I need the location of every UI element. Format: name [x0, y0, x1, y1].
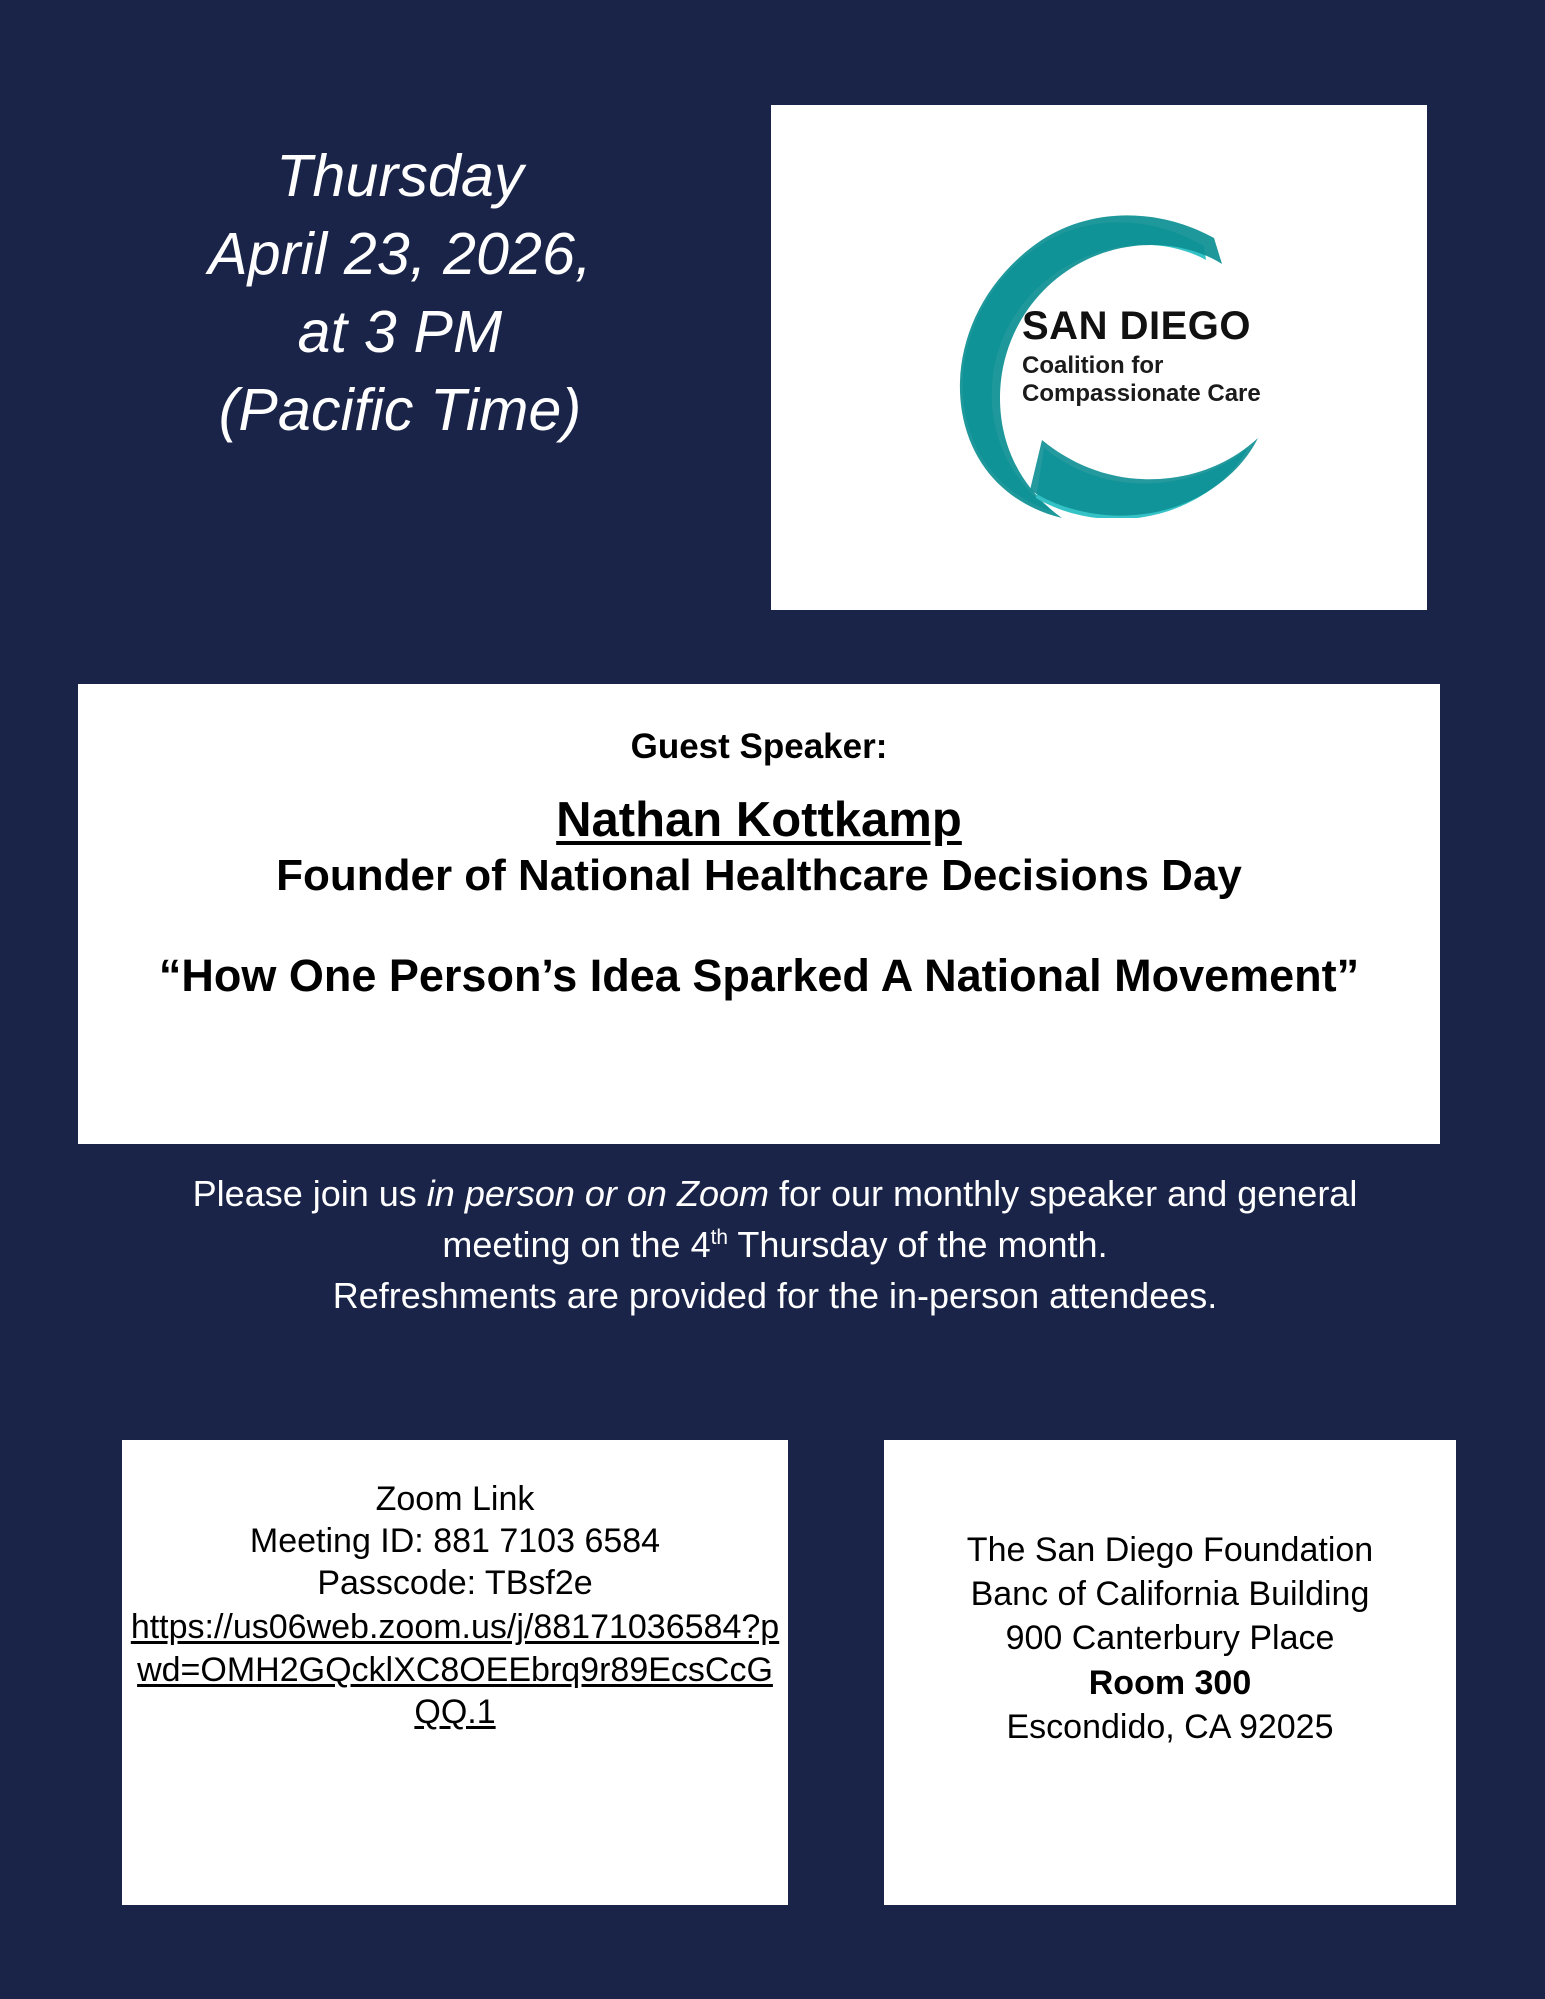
zoom-join-link[interactable]: https://us06web.zoom.us/j/88171036584?pw…: [130, 1606, 780, 1732]
event-date-line-3: at 3 PM: [70, 294, 730, 372]
refreshments-note: Refreshments are provided for the in-per…: [333, 1275, 1218, 1316]
event-date-line-1: Thursday: [70, 138, 730, 216]
zoom-link-card: Zoom Link Meeting ID: 881 7103 6584 Pass…: [122, 1440, 788, 1905]
logo-org-subtitle-line2: Compassionate Care: [1022, 380, 1302, 408]
talk-title: “How One Person’s Idea Sparked A Nationa…: [108, 946, 1410, 1005]
venue-street: 900 Canterbury Place: [890, 1616, 1450, 1660]
organization-logo-card: SAN DIEGO Coalition for Compassionate Ca…: [771, 105, 1427, 610]
join-us-text-part3: Thursday of the month.: [728, 1224, 1108, 1265]
zoom-heading: Zoom Link: [130, 1478, 780, 1520]
logo-org-subtitle-line1: Coalition for: [1022, 352, 1302, 380]
venue-organization: The San Diego Foundation: [890, 1528, 1450, 1572]
logo-wrap: SAN DIEGO Coalition for Compassionate Ca…: [904, 198, 1294, 518]
logo-org-name: SAN DIEGO: [1022, 306, 1302, 346]
event-date-line-4: (Pacific Time): [70, 372, 730, 450]
venue-address-card: The San Diego Foundation Banc of Califor…: [884, 1440, 1456, 1905]
event-date-line-2: April 23, 2026,: [70, 216, 730, 294]
zoom-meeting-id: Meeting ID: 881 7103 6584: [130, 1520, 780, 1562]
join-us-text-part1: Please join us: [193, 1173, 427, 1214]
venue-city-state-zip: Escondido, CA 92025: [890, 1705, 1450, 1749]
guest-speaker-label: Guest Speaker:: [108, 726, 1410, 767]
venue-room: Room 300: [890, 1661, 1450, 1705]
guest-speaker-name: Nathan Kottkamp: [108, 793, 1410, 848]
join-us-emphasis: in person or on Zoom: [427, 1173, 769, 1214]
event-date-block: Thursday April 23, 2026, at 3 PM (Pacifi…: [70, 138, 730, 450]
join-us-paragraph: Please join us in person or on Zoom for …: [150, 1168, 1400, 1321]
join-us-ordinal-suffix: th: [711, 1226, 728, 1249]
guest-speaker-panel: Guest Speaker: Nathan Kottkamp Founder o…: [78, 684, 1440, 1144]
event-flyer: Thursday April 23, 2026, at 3 PM (Pacifi…: [0, 0, 1545, 1999]
zoom-passcode: Passcode: TBsf2e: [130, 1562, 780, 1604]
venue-building: Banc of California Building: [890, 1572, 1450, 1616]
logo-text-block: SAN DIEGO Coalition for Compassionate Ca…: [1022, 306, 1302, 409]
guest-speaker-title: Founder of National Healthcare Decisions…: [108, 850, 1410, 902]
